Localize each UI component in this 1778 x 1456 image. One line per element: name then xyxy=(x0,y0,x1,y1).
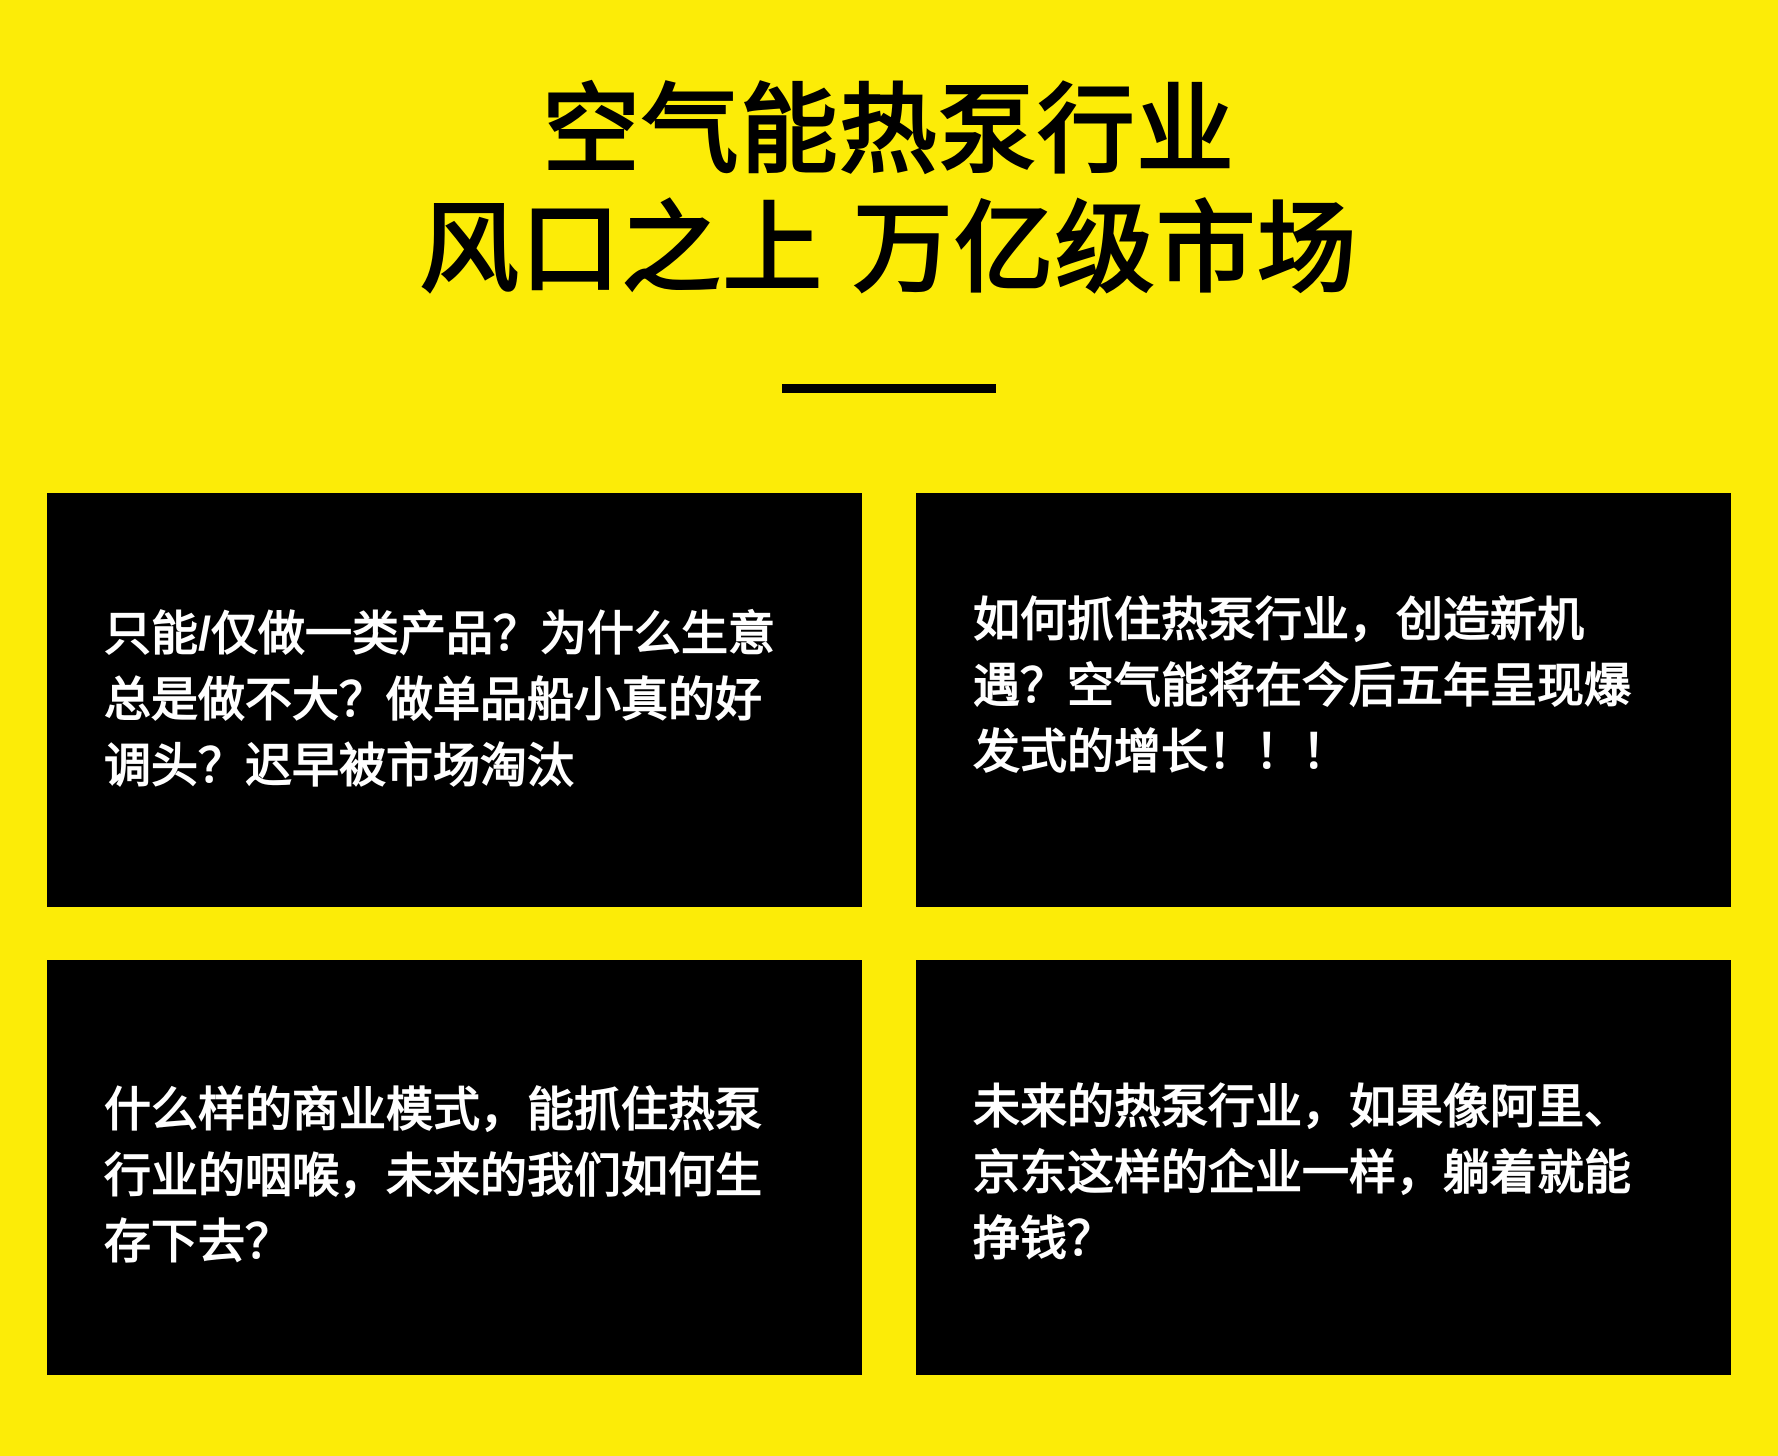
card-grid: 只能/仅做一类产品？为什么生意总是做不大？做单品船小真的好调头？迟早被市场淘汰 … xyxy=(47,493,1731,1375)
poster-canvas: 空气能热泵行业 风口之上 万亿级市场 只能/仅做一类产品？为什么生意总是做不大？… xyxy=(0,0,1778,1456)
card-bottom-right-text: 未来的热泵行业，如果像阿里、京东这样的企业一样，躺着就能挣钱？ xyxy=(916,1074,1731,1272)
card-bottom-right: 未来的热泵行业，如果像阿里、京东这样的企业一样，躺着就能挣钱？ xyxy=(916,960,1731,1375)
card-top-right: 如何抓住热泵行业，创造新机遇？空气能将在今后五年呈现爆发式的增长！！！ xyxy=(916,493,1731,907)
title-divider xyxy=(782,384,996,393)
page-title-line-1: 空气能热泵行业 xyxy=(0,76,1778,186)
poster-header: 空气能热泵行业 风口之上 万亿级市场 xyxy=(0,0,1778,430)
page-title-line-2: 风口之上 万亿级市场 xyxy=(0,194,1778,304)
card-top-left: 只能/仅做一类产品？为什么生意总是做不大？做单品船小真的好调头？迟早被市场淘汰 xyxy=(47,493,862,907)
card-top-left-text: 只能/仅做一类产品？为什么生意总是做不大？做单品船小真的好调头？迟早被市场淘汰 xyxy=(47,601,862,799)
card-bottom-left-text: 什么样的商业模式，能抓住热泵行业的咽喉，未来的我们如何生存下去？ xyxy=(47,1077,862,1275)
card-top-right-text: 如何抓住热泵行业，创造新机遇？空气能将在今后五年呈现爆发式的增长！！！ xyxy=(916,587,1731,785)
card-bottom-left: 什么样的商业模式，能抓住热泵行业的咽喉，未来的我们如何生存下去？ xyxy=(47,960,862,1375)
